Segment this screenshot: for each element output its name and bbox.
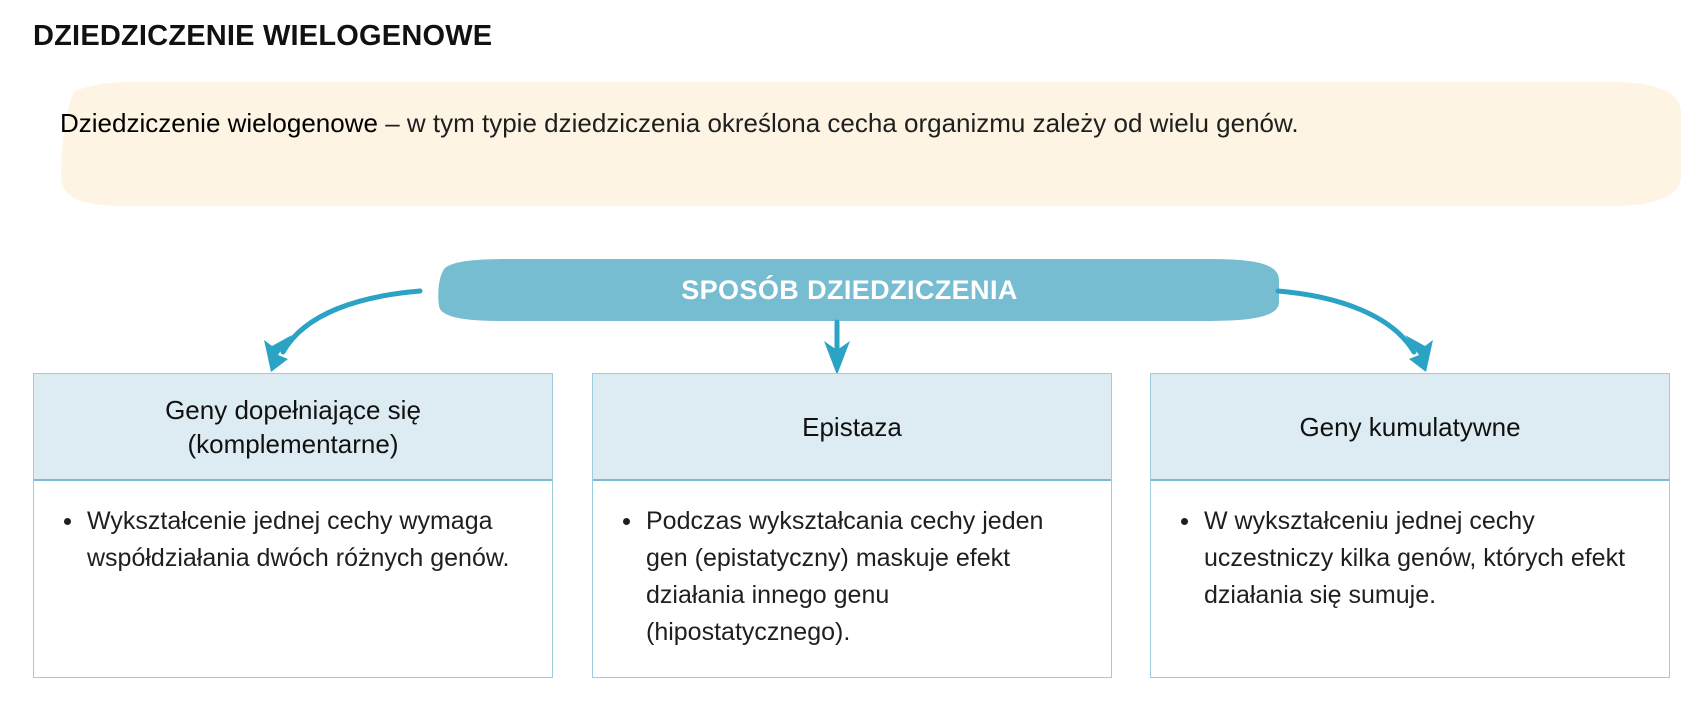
flow-banner-label: SPOSÓB DZIEDZICZENIA [417,258,1282,322]
definition-term: Dziedziczenie wielogenowe [60,108,378,138]
arrow-left-head [264,335,292,372]
bullet-dot [623,518,630,525]
list-item: W wykształceniu jednej cechy uczestniczy… [1177,503,1647,614]
arrow-right-head [1405,335,1433,372]
card-body: Podczas wykształcania cechy jeden gen (e… [593,481,1111,651]
arrow-left-line [283,291,420,352]
card-epistaza[interactable]: Epistaza Podczas wykształcania cechy jed… [592,373,1112,678]
card-title: Geny kumulatywne [1299,410,1520,444]
card-geny-dopelniajace[interactable]: Geny dopełniające się(komplementarne) Wy… [33,373,553,678]
list-item: Wykształcenie jednej cechy wymaga współd… [60,503,530,577]
card-body: Wykształcenie jednej cechy wymaga współd… [34,481,552,577]
flow-banner: SPOSÓB DZIEDZICZENIA [417,258,1282,322]
definition-callout: Dziedziczenie wielogenowe – w tym typie … [18,80,1683,208]
card-body: W wykształceniu jednej cechy uczestniczy… [1151,481,1669,614]
card-geny-kumulatywne[interactable]: Geny kumulatywne W wykształceniu jednej … [1150,373,1670,678]
card-title: Epistaza [802,410,902,444]
card-title: Geny dopełniające się(komplementarne) [165,393,421,461]
card-header: Geny dopełniające się(komplementarne) [34,374,552,481]
definition-body: – w tym typie dziedziczenia określona ce… [378,108,1299,138]
bullet-text: Podczas wykształcania cechy jeden gen (e… [646,507,1043,646]
bullet-dot [64,518,71,525]
card-header: Epistaza [593,374,1111,481]
definition-callout-shape [18,80,1683,208]
arrow-right-line [1278,291,1414,352]
card-header: Geny kumulatywne [1151,374,1669,481]
list-item: Podczas wykształcania cechy jeden gen (e… [619,503,1089,651]
bullet-dot [1181,518,1188,525]
arrow-center-head [824,341,850,375]
bullet-text: W wykształceniu jednej cechy uczestniczy… [1204,507,1625,609]
page-title: DZIEDZICZENIE WIELOGENOWE [33,20,492,53]
bullet-text: Wykształcenie jednej cechy wymaga współd… [87,507,509,572]
definition-text: Dziedziczenie wielogenowe – w tym typie … [60,103,1580,144]
